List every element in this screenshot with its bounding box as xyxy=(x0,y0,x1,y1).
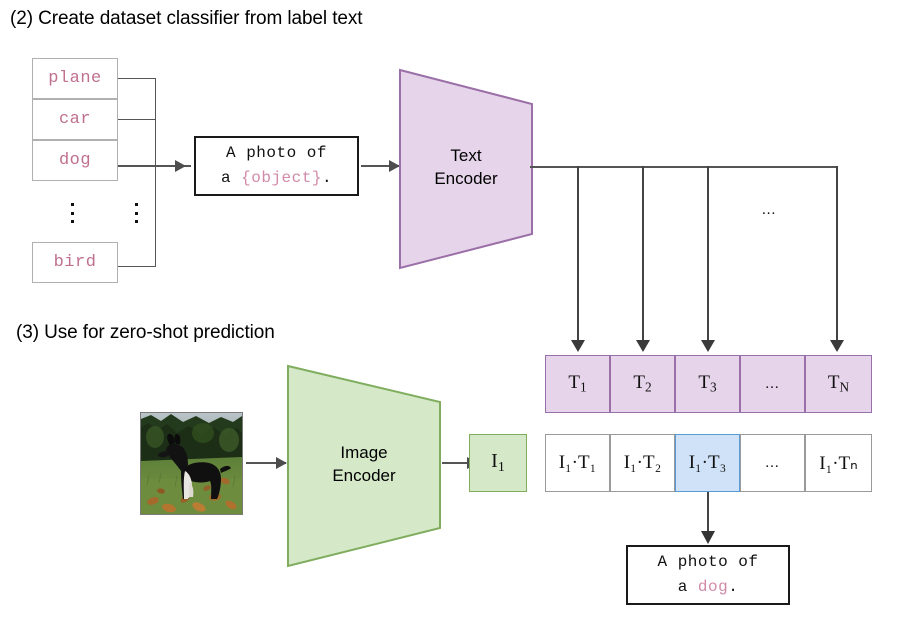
text-embedding-cell-ellipsis: ... xyxy=(740,355,805,413)
drop-line-t3 xyxy=(707,166,709,340)
prompt-template-line-1: A photo of xyxy=(226,141,327,166)
prompt-template-line-2: a {object}. xyxy=(221,166,332,191)
similarity-cell-3-selected[interactable]: I₁·T₃ xyxy=(675,434,740,492)
label-text: car xyxy=(59,110,91,129)
text-embedding-cell-n[interactable]: TN xyxy=(805,355,872,413)
drop-arrow-tn xyxy=(830,340,844,352)
image-embedding-box[interactable]: I1 xyxy=(469,434,527,492)
drop-line-t2 xyxy=(642,166,644,340)
cell-label: T3 xyxy=(698,372,716,396)
cell-label: T2 xyxy=(633,372,651,396)
result-prompt-prefix: a xyxy=(678,578,698,596)
label-text: dog xyxy=(59,151,91,170)
prompt-template-prefix: a xyxy=(221,169,241,187)
text-embedding-bus xyxy=(530,166,836,168)
photo-artwork xyxy=(141,413,242,514)
result-prompt-slot: dog xyxy=(698,578,728,596)
bus-ellipsis: ... xyxy=(762,202,776,219)
result-prompt-box[interactable]: A photo of a dog. xyxy=(626,545,790,605)
image-encoder-shape[interactable] xyxy=(284,362,444,570)
cell-label: I₁·T₁ xyxy=(559,452,597,474)
vertical-ellipsis-icon-connector xyxy=(135,203,138,223)
cell-label: ... xyxy=(765,376,779,393)
drop-arrow-t3 xyxy=(701,340,715,352)
cell-label: TN xyxy=(828,372,849,396)
cell-label: I₁·T₃ xyxy=(689,452,727,474)
similarity-cell-ellipsis: ... xyxy=(740,434,805,492)
label-box-plane[interactable]: plane xyxy=(32,58,118,99)
connector-stub-car xyxy=(118,119,156,120)
drop-arrow-t1 xyxy=(571,340,585,352)
result-prompt-line-2: a dog. xyxy=(678,575,739,600)
label-box-bird[interactable]: bird xyxy=(32,242,118,283)
connector-stub-bird xyxy=(118,266,156,267)
label-text: plane xyxy=(48,69,102,88)
result-prompt-suffix: . xyxy=(728,578,738,596)
heading-step-3: (3) Use for zero-shot prediction xyxy=(16,322,275,344)
connector-stub-plane xyxy=(118,78,156,79)
prompt-template-box[interactable]: A photo of a {object}. xyxy=(194,136,359,196)
similarity-cell-1[interactable]: I₁·T₁ xyxy=(545,434,610,492)
image-embedding-label: I1 xyxy=(491,450,505,476)
prompt-template-suffix: . xyxy=(322,169,332,187)
arrow-selection-to-result-line xyxy=(707,492,709,532)
arrow-selection-to-result-head xyxy=(701,531,715,544)
text-embedding-cell-2[interactable]: T2 xyxy=(610,355,675,413)
cell-label: T1 xyxy=(568,372,586,396)
vertical-ellipsis-icon-labels xyxy=(71,203,74,223)
result-prompt-line-1: A photo of xyxy=(657,550,758,575)
label-text: bird xyxy=(54,253,97,272)
similarity-cell-n[interactable]: I₁·Tₙ xyxy=(805,434,872,492)
input-photo[interactable] xyxy=(140,412,243,515)
label-box-dog[interactable]: dog xyxy=(32,140,118,181)
drop-arrow-t2 xyxy=(636,340,650,352)
text-embedding-cell-1[interactable]: T1 xyxy=(545,355,610,413)
cell-label: I₁·Tₙ xyxy=(819,452,857,475)
heading-step-2: (2) Create dataset classifier from label… xyxy=(10,8,362,30)
drop-line-t1 xyxy=(577,166,579,340)
similarity-cell-2[interactable]: I₁·T₂ xyxy=(610,434,675,492)
connector-spine xyxy=(155,78,156,267)
text-embedding-cell-3[interactable]: T3 xyxy=(675,355,740,413)
cell-label: I₁·T₂ xyxy=(624,452,662,474)
label-box-car[interactable]: car xyxy=(32,99,118,140)
drop-line-tn xyxy=(836,166,838,340)
cell-label: ... xyxy=(765,455,779,472)
text-encoder-shape[interactable] xyxy=(396,66,536,272)
prompt-template-slot: {object} xyxy=(241,169,322,187)
arrow-labels-to-prompt-head xyxy=(175,160,186,172)
clip-zero-shot-diagram: (2) Create dataset classifier from label… xyxy=(0,0,906,624)
